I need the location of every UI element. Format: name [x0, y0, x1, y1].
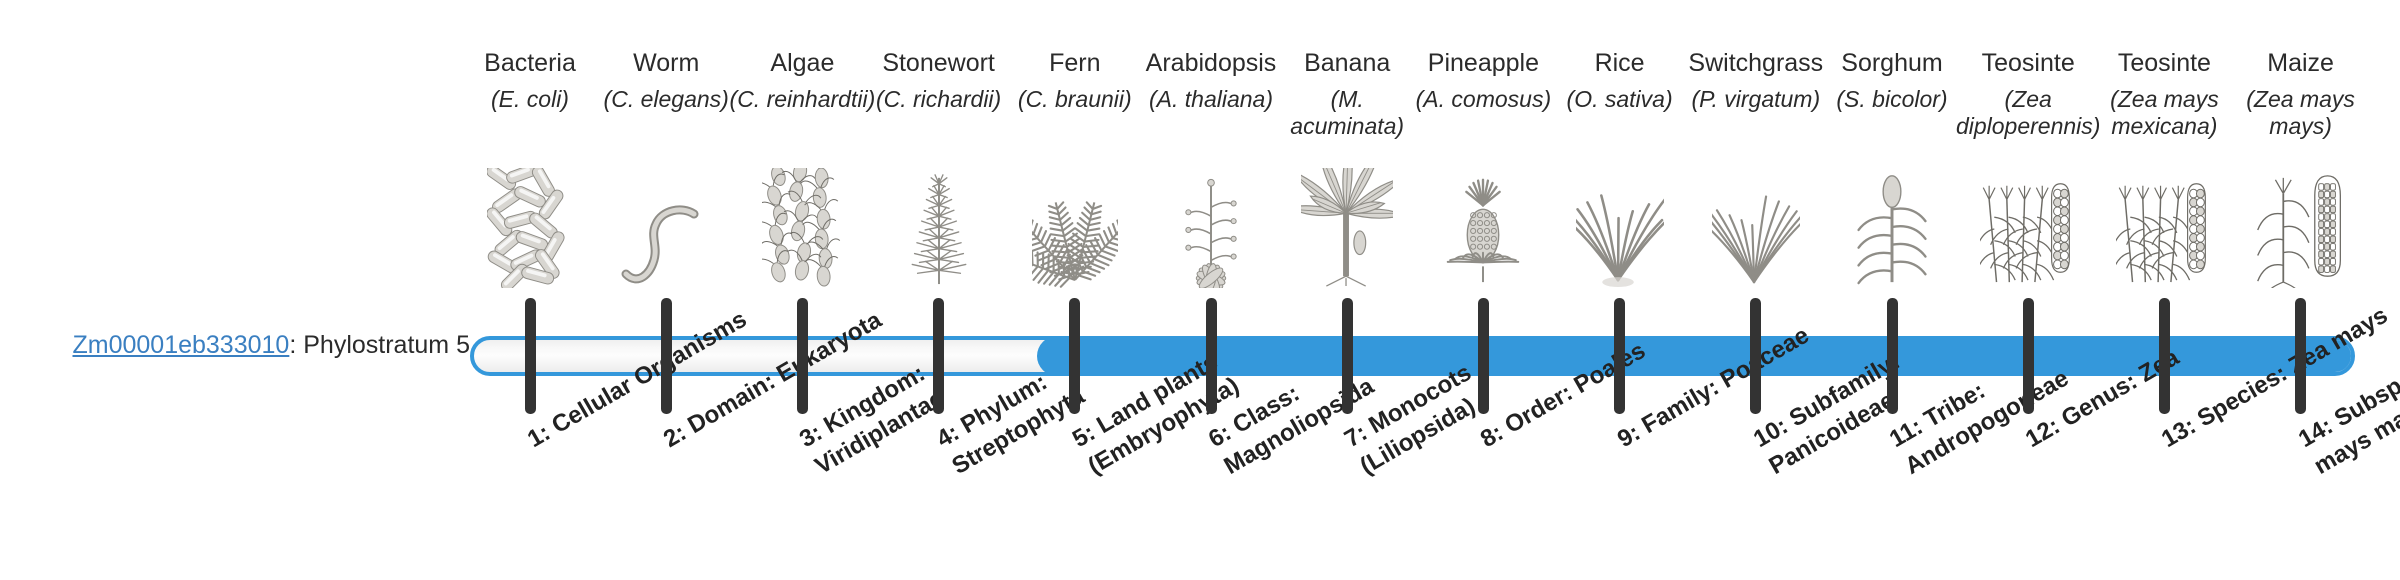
species-common-name: Switchgrass: [1681, 48, 1831, 78]
species-column-9: Rice (O. sativa): [1545, 48, 1695, 113]
algae-cells-icon: [727, 168, 877, 288]
species-common-name: Fern: [1000, 48, 1150, 78]
species-scientific-name: (Zea mays mexicana): [2089, 86, 2239, 140]
bacteria-rods-icon: [455, 168, 605, 288]
species-column-14: Maize (Zea mays mays): [2226, 48, 2376, 140]
maize-plant-and-cob-icon: [2226, 168, 2376, 288]
phylostratum-figure: Zm00001eb333010: Phylostratum 5 Bacteria…: [0, 0, 2400, 580]
gene-id-link[interactable]: Zm00001eb333010: [72, 331, 289, 359]
stratum-tick-14[interactable]: [2295, 298, 2306, 414]
species-scientific-name: (C. richardii): [864, 86, 1014, 113]
species-common-name: Teosinte: [1953, 48, 2103, 78]
stratum-tick-3[interactable]: [797, 298, 808, 414]
species-scientific-name: (C. elegans): [591, 86, 741, 113]
teosinte-plant-and-ear-icon: [1953, 168, 2103, 288]
gene-label-separator: :: [289, 331, 303, 359]
phylostratum-value: Phylostratum 5: [303, 331, 470, 359]
fern-frond-icon: [1000, 168, 1150, 288]
sorghum-icon: [1817, 168, 1967, 288]
species-common-name: Pineapple: [1408, 48, 1558, 78]
stratum-tick-4[interactable]: [933, 298, 944, 414]
species-common-name: Sorghum: [1817, 48, 1967, 78]
species-column-8: Pineapple (A. comosus): [1408, 48, 1558, 113]
species-column-10: Switchgrass (P. virgatum): [1681, 48, 1831, 113]
species-column-5: Fern (C. braunii): [1000, 48, 1150, 113]
species-column-4: Stonewort (C. richardii): [864, 48, 1014, 113]
species-column-11: Sorghum (S. bicolor): [1817, 48, 1967, 113]
species-common-name: Banana: [1272, 48, 1422, 78]
species-common-name: Maize: [2226, 48, 2376, 78]
stratum-tick-5[interactable]: [1069, 298, 1080, 414]
species-common-name: Teosinte: [2089, 48, 2239, 78]
stonewort-icon: [864, 168, 1014, 288]
stratum-tick-8[interactable]: [1478, 298, 1489, 414]
species-common-name: Stonewort: [864, 48, 1014, 78]
teosinte-plant-and-ear-icon: [2089, 168, 2239, 288]
species-column-2: Worm (C. elegans): [591, 48, 741, 113]
species-column-12: Teosinte (Zea diploperennis): [1953, 48, 2103, 140]
species-scientific-name: (Zea mays mays): [2226, 86, 2376, 140]
gene-phylostratum-label: Zm00001eb333010: Phylostratum 5: [40, 330, 470, 360]
stratum-tick-10[interactable]: [1750, 298, 1761, 414]
species-column-13: Teosinte (Zea mays mexicana): [2089, 48, 2239, 140]
species-column-3: Algae (C. reinhardtii): [727, 48, 877, 113]
banana-plant-icon: [1272, 168, 1422, 288]
species-scientific-name: (C. braunii): [1000, 86, 1150, 113]
species-common-name: Bacteria: [455, 48, 605, 78]
stratum-tick-7[interactable]: [1342, 298, 1353, 414]
species-column-7: Banana (M. acuminata): [1272, 48, 1422, 140]
pineapple-plant-icon: [1408, 168, 1558, 288]
species-scientific-name: (Zea diploperennis): [1953, 86, 2103, 140]
species-scientific-name: (A. thaliana): [1136, 86, 1286, 113]
species-column-6: Arabidopsis (A. thaliana): [1136, 48, 1286, 113]
species-scientific-name: (O. sativa): [1545, 86, 1695, 113]
nematode-worm-icon: [591, 168, 741, 288]
stratum-tick-6[interactable]: [1206, 298, 1217, 414]
arabidopsis-icon: [1136, 168, 1286, 288]
stratum-tick-2[interactable]: [661, 298, 672, 414]
stratum-tick-9[interactable]: [1614, 298, 1625, 414]
switchgrass-icon: [1681, 168, 1831, 288]
species-scientific-name: (E. coli): [455, 86, 605, 113]
species-common-name: Arabidopsis: [1136, 48, 1286, 78]
species-scientific-name: (S. bicolor): [1817, 86, 1967, 113]
stratum-label-1: 1: Cellular Organisms: [522, 298, 763, 455]
species-column-1: Bacteria (E. coli): [455, 48, 605, 113]
species-common-name: Worm: [591, 48, 741, 78]
species-scientific-name: (M. acuminata): [1272, 86, 1422, 140]
species-scientific-name: (C. reinhardtii): [727, 86, 877, 113]
rice-plant-icon: [1545, 168, 1695, 288]
species-common-name: Algae: [727, 48, 877, 78]
stratum-tick-1[interactable]: [525, 298, 536, 414]
stratum-tick-13[interactable]: [2159, 298, 2170, 414]
stratum-tick-11[interactable]: [1887, 298, 1898, 414]
species-scientific-name: (P. virgatum): [1681, 86, 1831, 113]
species-scientific-name: (A. comosus): [1408, 86, 1558, 113]
species-common-name: Rice: [1545, 48, 1695, 78]
stratum-tick-12[interactable]: [2023, 298, 2034, 414]
